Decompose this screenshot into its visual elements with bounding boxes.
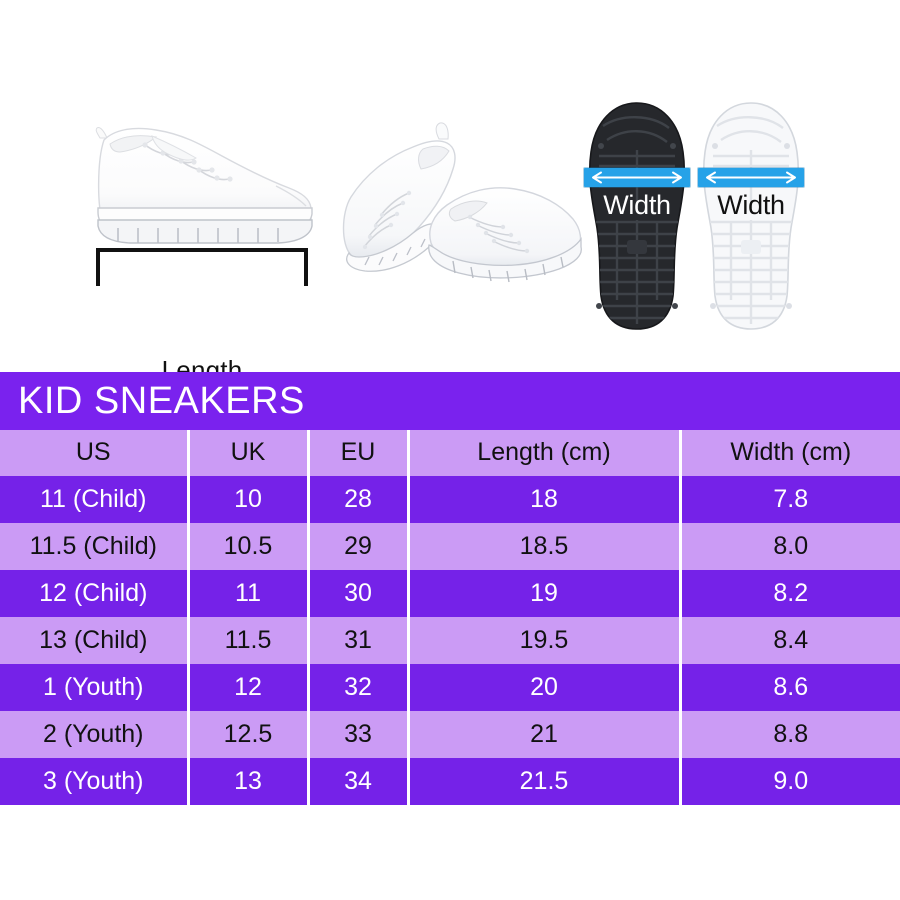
table-row: 3 (Youth) 13 34 21.5 9.0	[0, 758, 900, 805]
length-bracket-tick-right	[304, 248, 308, 286]
chart-title-banner: KID SNEAKERS	[0, 372, 900, 430]
width-measure-label-black: Width	[583, 190, 691, 220]
length-bracket-tick-left	[96, 248, 100, 286]
column-header-eu: EU	[308, 430, 408, 476]
cell-length: 20	[408, 664, 680, 711]
shoe-sole-white: Width	[697, 100, 805, 332]
cell-width: 8.2	[680, 570, 900, 617]
table-header: US UK EU Length (cm) Width (cm)	[0, 430, 900, 476]
cell-length: 18.5	[408, 523, 680, 570]
cell-eu: 33	[308, 711, 408, 758]
cell-uk: 12	[188, 664, 308, 711]
table-body: 11 (Child) 10 28 18 7.8 11.5 (Child) 10.…	[0, 476, 900, 805]
cell-uk: 11.5	[188, 617, 308, 664]
cell-eu: 30	[308, 570, 408, 617]
cell-eu: 34	[308, 758, 408, 805]
table-row: 13 (Child) 11.5 31 19.5 8.4	[0, 617, 900, 664]
cell-eu: 32	[308, 664, 408, 711]
cell-width: 9.0	[680, 758, 900, 805]
cell-eu: 29	[308, 523, 408, 570]
column-header-width: Width (cm)	[680, 430, 900, 476]
table-row: 11 (Child) 10 28 18 7.8	[0, 476, 900, 523]
shoe-soles-group: Width	[583, 100, 815, 335]
cell-length: 18	[408, 476, 680, 523]
sneaker-pair-view	[335, 105, 585, 310]
cell-eu: 31	[308, 617, 408, 664]
cell-uk: 12.5	[188, 711, 308, 758]
cell-width: 8.6	[680, 664, 900, 711]
width-measure-bar-black	[584, 168, 690, 187]
cell-length: 19	[408, 570, 680, 617]
table-row: 11.5 (Child) 10.5 29 18.5 8.0	[0, 523, 900, 570]
length-bracket-line	[96, 248, 308, 252]
cell-length: 21	[408, 711, 680, 758]
sneaker-pair-photo-icon	[335, 105, 585, 310]
length-measure-bracket	[96, 248, 308, 286]
table-header-row: US UK EU Length (cm) Width (cm)	[0, 430, 900, 476]
cell-us: 11 (Child)	[0, 476, 188, 523]
size-chart-table: US UK EU Length (cm) Width (cm) 11 (Chil…	[0, 430, 900, 806]
sneaker-side-view: Length	[70, 100, 340, 300]
cell-uk: 13	[188, 758, 308, 805]
column-header-us: US	[0, 430, 188, 476]
cell-uk: 10.5	[188, 523, 308, 570]
sneaker-side-view-icon	[70, 100, 340, 270]
width-double-arrow-icon	[584, 168, 690, 187]
cell-uk: 11	[188, 570, 308, 617]
cell-width: 8.0	[680, 523, 900, 570]
size-chart-table-wrapper: US UK EU Length (cm) Width (cm) 11 (Chil…	[0, 430, 900, 806]
table-row: 12 (Child) 11 30 19 8.2	[0, 570, 900, 617]
cell-uk: 10	[188, 476, 308, 523]
table-row: 2 (Youth) 12.5 33 21 8.8	[0, 711, 900, 758]
page-title: KID SNEAKERS	[0, 382, 305, 420]
cell-us: 12 (Child)	[0, 570, 188, 617]
width-measure-bar-white	[698, 168, 804, 187]
cell-length: 19.5	[408, 617, 680, 664]
cell-width: 8.8	[680, 711, 900, 758]
cell-us: 2 (Youth)	[0, 711, 188, 758]
cell-eu: 28	[308, 476, 408, 523]
shoe-sole-black: Width	[583, 100, 691, 332]
table-row: 1 (Youth) 12 32 20 8.6	[0, 664, 900, 711]
cell-length: 21.5	[408, 758, 680, 805]
column-header-length: Length (cm)	[408, 430, 680, 476]
width-double-arrow-icon	[698, 168, 804, 187]
column-header-uk: UK	[188, 430, 308, 476]
cell-us: 3 (Youth)	[0, 758, 188, 805]
width-measure-label-white: Width	[697, 190, 805, 220]
cell-us: 13 (Child)	[0, 617, 188, 664]
cell-width: 7.8	[680, 476, 900, 523]
cell-us: 11.5 (Child)	[0, 523, 188, 570]
illustration-band: Length	[0, 0, 900, 372]
cell-width: 8.4	[680, 617, 900, 664]
cell-us: 1 (Youth)	[0, 664, 188, 711]
